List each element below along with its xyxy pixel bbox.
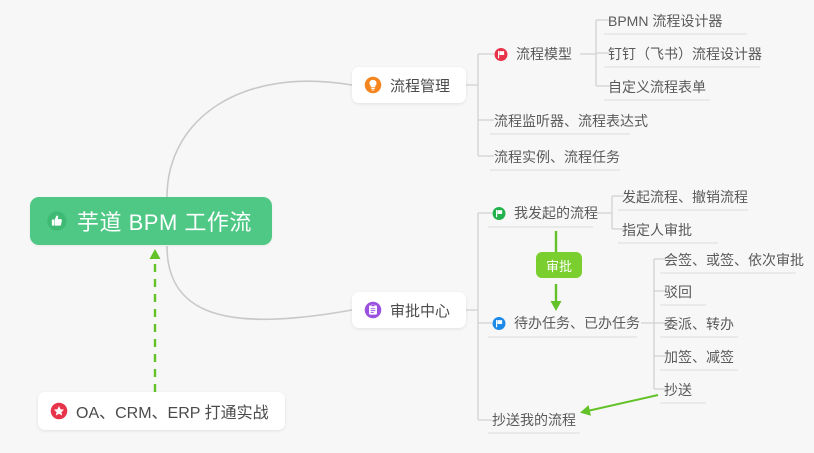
node-process-listener-expression[interactable]: 流程监听器、流程表达式	[490, 108, 654, 134]
node-assigned-approver-label: 指定人审批	[622, 220, 692, 240]
node-carbon-copy-label: 抄送	[664, 380, 692, 400]
branch-node-approval-center-label: 审批中心	[390, 300, 450, 321]
node-assigned-approver[interactable]: 指定人审批	[618, 217, 698, 243]
floating-node-integration-practice-label: OA、CRM、ERP 打通实战	[76, 399, 269, 423]
flag-blue-icon	[492, 316, 506, 330]
node-dingtalk-feishu-designer-label: 钉钉（飞书）流程设计器	[608, 44, 762, 64]
node-dingtalk-feishu-designer[interactable]: 钉钉（飞书）流程设计器	[604, 41, 768, 67]
node-countersign-orsign-sequential-label: 会签、或签、依次审批	[664, 250, 804, 270]
node-process-model-label: 流程模型	[516, 44, 572, 64]
node-carbon-copy[interactable]: 抄送	[660, 377, 698, 403]
node-delegate-transfer[interactable]: 委派、转办	[660, 311, 740, 337]
clipboard-icon	[364, 301, 382, 319]
node-process-model[interactable]: 流程模型	[492, 41, 578, 67]
node-process-instance-task[interactable]: 流程实例、流程任务	[490, 144, 626, 170]
node-custom-process-form-label: 自定义流程表单	[608, 77, 706, 97]
node-bpmn-designer[interactable]: BPMN 流程设计器	[604, 8, 728, 34]
node-custom-process-form[interactable]: 自定义流程表单	[604, 74, 712, 100]
lightbulb-icon	[364, 76, 382, 94]
node-add-remove-sign-label: 加签、减签	[664, 347, 734, 367]
star-red-icon	[50, 402, 68, 420]
node-reject[interactable]: 驳回	[660, 279, 698, 305]
node-my-initiated-process-label: 我发起的流程	[514, 203, 598, 223]
node-start-cancel-process-label: 发起流程、撤销流程	[622, 187, 748, 207]
connector-root-to-approval-center	[167, 246, 352, 319]
branch-node-process-management-label: 流程管理	[390, 75, 450, 96]
node-bpmn-designer-label: BPMN 流程设计器	[608, 11, 722, 31]
node-todo-done-tasks[interactable]: 待办任务、已办任务	[490, 310, 646, 336]
node-delegate-transfer-label: 委派、转办	[664, 314, 734, 334]
node-start-cancel-process[interactable]: 发起流程、撤销流程	[618, 184, 754, 210]
mindmap-canvas: 芋道 BPM 工作流 流程管理 流程模型 BPMN 流程设计器 钉钉（飞书）流程	[0, 0, 814, 453]
node-process-instance-task-label: 流程实例、流程任务	[494, 147, 620, 167]
node-todo-done-tasks-label: 待办任务、已办任务	[514, 313, 640, 333]
relation-label-approval[interactable]: 审批	[536, 252, 582, 278]
flag-red-icon	[494, 47, 508, 61]
root-node-label: 芋道 BPM 工作流	[77, 205, 252, 237]
relation-label-approval-text: 审批	[546, 256, 572, 275]
node-my-initiated-process[interactable]: 我发起的流程	[490, 200, 604, 226]
connector-root-to-process-management	[167, 81, 352, 197]
floating-node-integration-practice[interactable]: OA、CRM、ERP 打通实战	[38, 392, 285, 430]
flag-green-icon	[492, 206, 506, 220]
node-cc-to-me-process-label: 抄送我的流程	[492, 410, 576, 430]
node-process-listener-expression-label: 流程监听器、流程表达式	[494, 111, 648, 131]
thumbs-up-icon	[46, 210, 68, 232]
node-add-remove-sign[interactable]: 加签、减签	[660, 344, 740, 370]
branch-node-process-management[interactable]: 流程管理	[352, 67, 466, 103]
node-reject-label: 驳回	[664, 282, 692, 302]
node-countersign-orsign-sequential[interactable]: 会签、或签、依次审批	[660, 247, 810, 273]
node-cc-to-me-process[interactable]: 抄送我的流程	[488, 407, 582, 433]
relation-arrow-carbon-copy	[583, 395, 658, 412]
branch-node-approval-center[interactable]: 审批中心	[352, 292, 466, 328]
root-node[interactable]: 芋道 BPM 工作流	[30, 197, 272, 245]
